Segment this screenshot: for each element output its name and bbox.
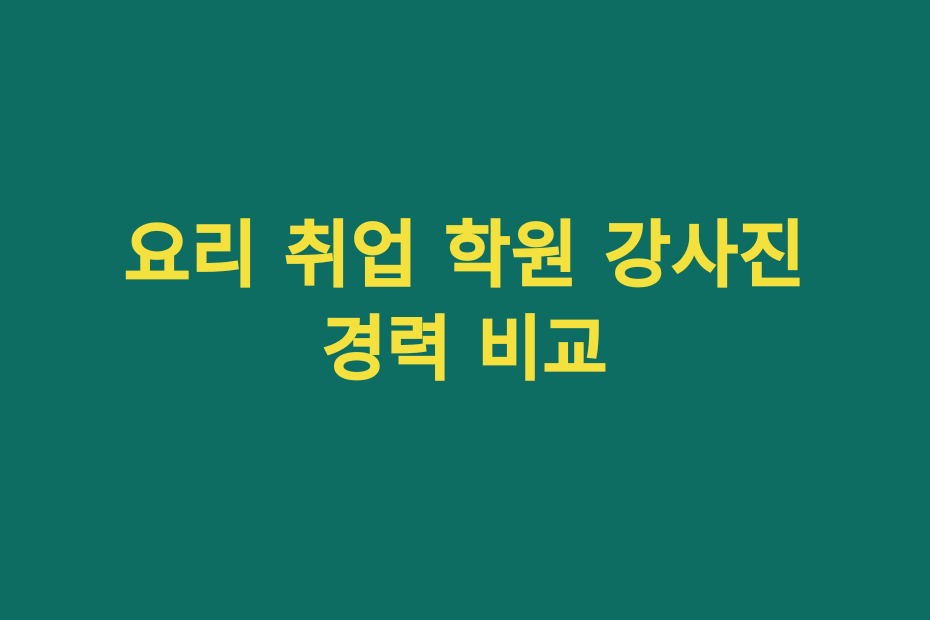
headline-line-2: 경력 비교 <box>0 303 930 395</box>
poster-canvas: 요리 취업 학원 강사진 경력 비교 <box>0 0 930 620</box>
headline-line-1: 요리 취업 학원 강사진 <box>0 208 930 303</box>
headline-block: 요리 취업 학원 강사진 경력 비교 <box>0 208 930 395</box>
